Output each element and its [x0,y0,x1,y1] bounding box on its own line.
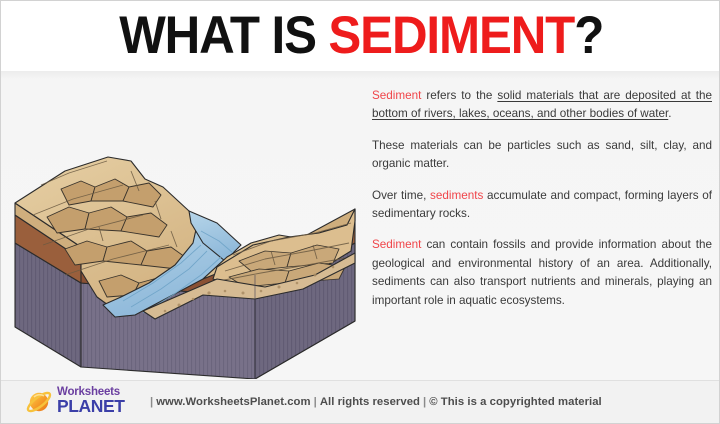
paragraph-4: Sediment can contain fossils and provide… [372,236,712,310]
gravel-dot [224,290,227,293]
paragraph-3: Over time, sediments accumulate and comp… [372,187,712,224]
page-title-lead: WHAT IS [119,6,328,65]
footer-separator-2: | [311,396,320,408]
keyword-sediments: sediments [430,189,483,202]
paragraph-1: Sediment refers to the solid materials t… [372,87,712,124]
page-title: WHAT IS SEDIMENT? [119,8,603,64]
p1-seg-2: refers to the [421,89,497,102]
footer-copyright-note: This is a copyrighted material [441,396,602,408]
p2-text: These materials can be particles such as… [372,139,712,170]
worksheet-page: WHAT IS SEDIMENT? [0,0,720,424]
footer-bar: Worksheets PLANET |www.WorksheetsPlanet.… [1,380,720,423]
gravel-dot [192,298,195,301]
river-valley-block-diagram-svg [3,75,359,379]
page-title-question-mark: ? [574,6,603,65]
footer-separator-1: | [147,396,156,408]
logo-line-planet: PLANET [57,398,125,416]
p3-seg-1: Over time, [372,189,430,202]
footer-credits: |www.WorksheetsPlanet.com|All rights res… [147,396,602,408]
footer-separator-3: | [420,396,429,408]
gravel-dot [296,282,299,285]
gravel-dot [178,304,181,307]
footer-rights: All rights reserved [320,396,420,408]
gravel-dot [260,290,263,293]
gravel-dot [164,310,167,313]
gravel-dot [278,286,281,289]
planet-icon [25,387,55,417]
p1-seg-4: . [668,107,671,120]
footer-website[interactable]: www.WorksheetsPlanet.com [156,396,310,408]
definition-text-column: Sediment refers to the solid materials t… [372,87,712,383]
keyword-sediment: Sediment [372,89,421,102]
gravel-dot [207,291,210,294]
gravel-dot [314,274,317,277]
page-header: WHAT IS SEDIMENT? [1,1,720,71]
keyword-sediment-2: Sediment [372,238,421,251]
copyright-icon: © [429,396,437,408]
logo-wordmark: Worksheets PLANET [57,387,125,416]
page-title-keyword: SEDIMENT [328,6,574,65]
worksheets-planet-logo[interactable]: Worksheets PLANET [25,387,137,417]
gravel-dot [332,266,335,269]
sediment-illustration [3,75,359,379]
p4-seg-2: can contain fossils and provide informat… [372,238,712,306]
paragraph-2: These materials can be particles such as… [372,137,712,174]
gravel-dot [242,292,245,295]
planet-icon-svg [25,387,55,417]
